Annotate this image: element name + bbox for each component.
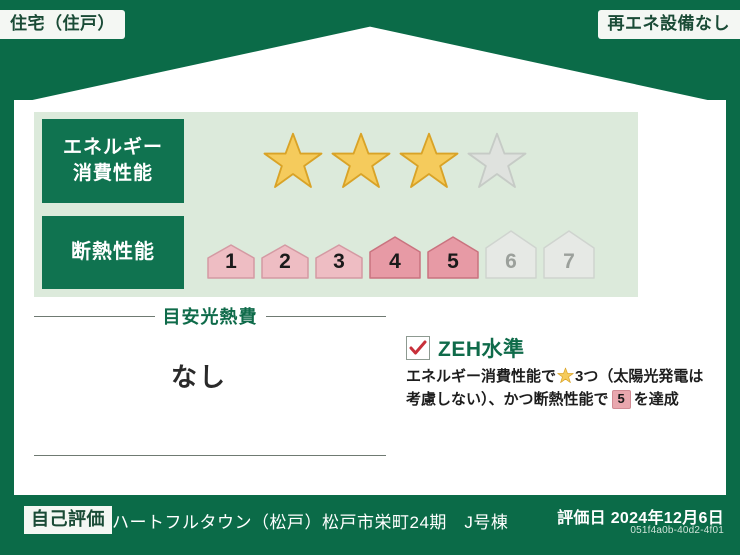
footer: 自己評価 ハートフルタウン（松戸）松戸市栄町24期 J号棟 評価日 2024年1… [0,495,740,555]
utility-cost-title: 目安光熱費 [163,303,258,329]
insulation-label-cell: 断熱性能 [42,216,184,289]
energy-label-line2: 消費性能 [73,161,153,187]
insulation-level-7: 7 [542,228,596,280]
zeh-desc-part2: 3つ（太陽光発電 [575,368,688,385]
zeh-desc-part4: を達成 [634,391,679,408]
utility-cost-value: なし [34,357,364,394]
renewable-energy-badge: 再エネ設備なし [598,10,740,39]
building-type-badge: 住宅（住戸） [0,10,125,39]
zeh-level-badge: 5 [612,390,631,409]
house-icon-6 [484,228,538,280]
house-icon-2 [260,242,310,280]
energy-performance-label: 住宅（住戸） 再エネ設備なし 建築物省エネ法に基づく 省エネ性能ラベル エネルギ… [0,0,740,555]
energy-performance-row: エネルギー 消費性能 [34,112,638,210]
zeh-desc-part1: エネルギー消費性能で [406,368,556,385]
house-icon-1 [206,242,256,280]
rule-left [34,316,155,317]
check-icon [409,340,427,356]
insulation-houses-area: 1 2 3 [184,210,638,297]
house-icon-3 [314,242,364,280]
star-icon-filled-1 [262,130,324,192]
utility-cost-bottom-rule [34,455,386,456]
insulation-performance-row: 断熱性能 1 2 [34,210,638,297]
zeh-title: ZEH水準 [438,333,525,363]
house-icon-4 [368,234,422,280]
energy-label-line1: エネルギー [63,135,163,161]
label-body: エネルギー 消費性能 [14,100,726,495]
star-icon-inline [557,367,574,384]
self-evaluation-badge: 自己評価 [24,506,112,534]
insulation-level-2: 2 [260,242,310,280]
energy-performance-label-cell: エネルギー 消費性能 [42,119,184,203]
insulation-level-6: 6 [484,228,538,280]
zeh-section: ZEH水準 エネルギー消費性能で3つ（太陽光発電は考慮しない）、かつ断熱性能で5… [406,297,706,487]
bottom-section: 目安光熱費 なし ZEH水準 エネルギー消費性能で3つ（太陽光発電は考慮し [14,297,726,495]
rule-right [266,316,387,317]
property-name: ハートフルタウン（松戸）松戸市栄町24期 J号棟 [112,508,508,533]
star-icon-filled-3 [398,130,460,192]
insulation-level-3: 3 [314,242,364,280]
zeh-description: エネルギー消費性能で3つ（太陽光発電は考慮しない）、かつ断熱性能で5を達成 [406,365,706,412]
utility-cost-heading: 目安光熱費 [34,303,386,329]
zeh-checkbox[interactable] [406,336,430,360]
insulation-level-1: 1 [206,242,256,280]
star-rating [262,130,528,192]
star-icon-filled-2 [330,130,392,192]
utility-cost-section: 目安光熱費 なし [34,297,386,487]
star-icon-empty-4 [466,130,528,192]
house-icon-5 [426,234,480,280]
energy-stars-area [184,112,638,210]
rating-block: エネルギー 消費性能 [34,112,638,297]
evaluation-id: 051f4a0b-40d2-4f01 [630,525,724,536]
insulation-level-scale: 1 2 3 [206,228,596,280]
insulation-level-5: 5 [426,234,480,280]
insulation-level-4: 4 [368,234,422,280]
house-icon-7 [542,228,596,280]
zeh-heading: ZEH水準 [406,333,525,363]
